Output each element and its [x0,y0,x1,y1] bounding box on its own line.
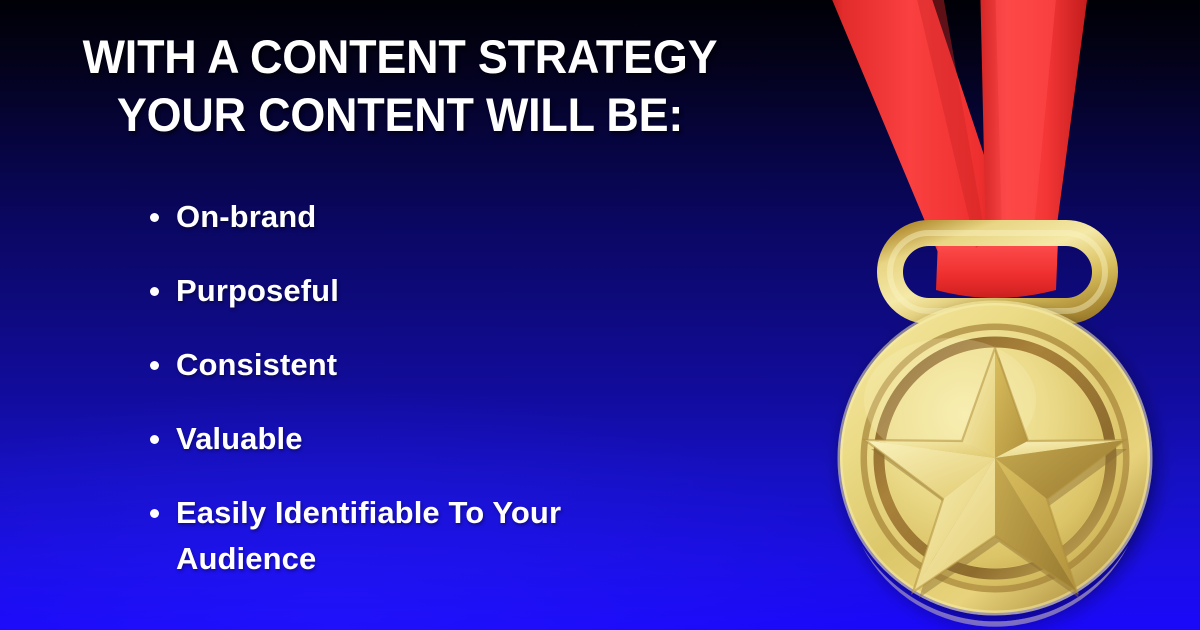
bullet-dot-icon [150,361,159,370]
list-item-label: On-brand [176,194,606,240]
list-item: On-brand [148,194,788,240]
list-item-label: Easily Identifiable To Your Audience [176,490,606,582]
benefits-list: On-brand Purposeful Consistent Valuable … [148,194,788,582]
list-item-label: Valuable [176,416,606,462]
bullet-dot-icon [150,509,159,518]
list-item-label: Purposeful [176,268,606,314]
gold-star-medal [790,0,1200,630]
bullet-dot-icon [150,213,159,222]
page-title: With A Content Strategy Your Content Wil… [18,28,782,144]
text-block: With A Content Strategy Your Content Wil… [0,0,800,630]
list-item: Purposeful [148,268,788,314]
bullet-dot-icon [150,435,159,444]
bullet-dot-icon [150,287,159,296]
slide-canvas: With A Content Strategy Your Content Wil… [0,0,1200,630]
list-item: Valuable [148,416,788,462]
list-item-label: Consistent [176,342,606,388]
list-item: Easily Identifiable To Your Audience [148,490,788,582]
red-v-ribbon [823,0,1090,298]
list-item: Consistent [148,342,788,388]
